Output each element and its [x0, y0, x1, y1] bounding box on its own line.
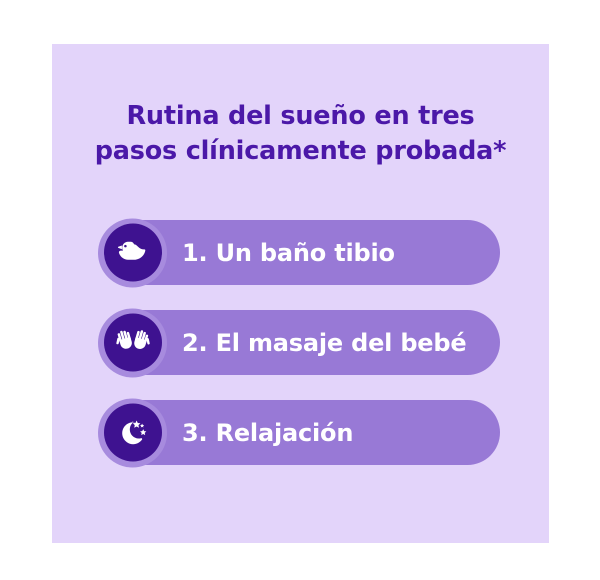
step-3-badge [98, 398, 167, 467]
step-2-label: 2. El masaje del bebé [182, 329, 466, 357]
moon-stars-icon [104, 404, 162, 462]
page-title: Rutina del sueño en tres pasos clínicame… [52, 99, 549, 169]
sleep-routine-panel: Rutina del sueño en tres pasos clínicame… [52, 44, 549, 543]
page-title-line-2: pasos clínicamente probada* [52, 134, 549, 169]
step-3-label: 3. Relajación [182, 419, 353, 447]
step-item-3[interactable]: 3. Relajación [100, 400, 500, 465]
page-title-line-1: Rutina del sueño en tres [52, 99, 549, 134]
step-1-badge [98, 218, 167, 287]
steps-list: 1. Un baño tibio [100, 220, 500, 465]
duck-icon [104, 224, 162, 282]
step-2-badge [98, 308, 167, 377]
hands-icon [104, 314, 162, 372]
screenshot-canvas: Rutina del sueño en tres pasos clínicame… [0, 0, 600, 580]
step-item-1[interactable]: 1. Un baño tibio [100, 220, 500, 285]
step-item-2[interactable]: 2. El masaje del bebé [100, 310, 500, 375]
step-1-label: 1. Un baño tibio [182, 239, 395, 267]
